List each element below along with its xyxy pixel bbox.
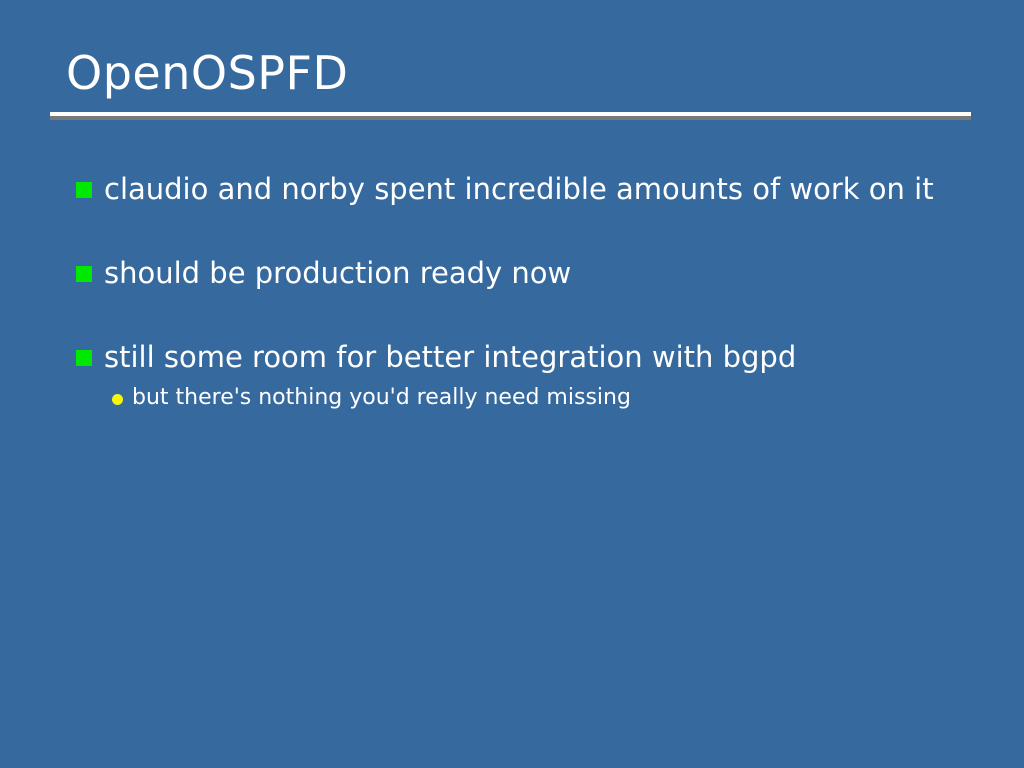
bullet-list: claudio and norby spent incredible amoun… bbox=[74, 168, 974, 414]
square-bullet-icon bbox=[76, 266, 92, 282]
square-bullet-icon bbox=[76, 182, 92, 198]
sub-list-item-label: but there's nothing you'd really need mi… bbox=[132, 385, 631, 410]
list-item: claudio and norby spent incredible amoun… bbox=[74, 168, 974, 210]
square-bullet-icon bbox=[76, 350, 92, 366]
list-item-label: should be production ready now bbox=[104, 252, 969, 294]
list-item: still some room for better integration w… bbox=[74, 336, 974, 414]
presentation-slide: OpenOSPFD claudio and norby spent incred… bbox=[0, 0, 1024, 768]
list-item: should be production ready now bbox=[74, 252, 974, 294]
dot-bullet-icon bbox=[112, 394, 123, 405]
sub-list-item: but there's nothing you'd really need mi… bbox=[104, 382, 974, 414]
sub-bullet-list: but there's nothing you'd really need mi… bbox=[104, 382, 974, 414]
slide-body: claudio and norby spent incredible amoun… bbox=[74, 168, 974, 414]
page-title: OpenOSPFD bbox=[50, 44, 971, 102]
list-item-label: still some room for better integration w… bbox=[104, 336, 969, 378]
title-block: OpenOSPFD bbox=[50, 44, 971, 102]
list-item-label: claudio and norby spent incredible amoun… bbox=[104, 168, 969, 210]
title-divider-shadow bbox=[50, 116, 971, 120]
